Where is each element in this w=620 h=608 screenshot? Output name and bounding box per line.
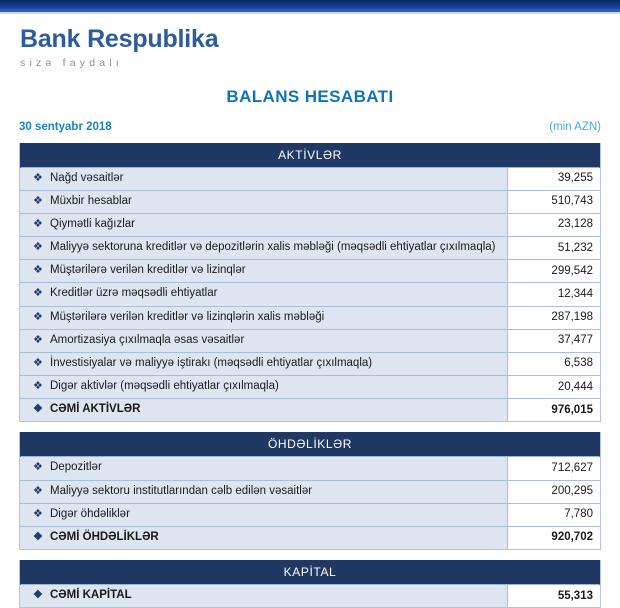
row-label-text: Müxbir hesablar <box>50 195 132 207</box>
row-label-text: Maliyyə sektoru institutlarından cəlb ed… <box>50 485 312 497</box>
row-label: ❖Maliyyə sektoru institutlarından cəlb e… <box>20 480 507 503</box>
row-label: ❖CƏMİ KAPİTAL <box>20 585 507 607</box>
brand-tagline: sizə faydalı <box>20 57 620 69</box>
balance-sheet-tables: AKTİVLƏR❖Nağd vəsaitlər39,255❖Müxbir hes… <box>0 143 620 608</box>
row-label: ❖Digər öhdəliklər <box>20 503 507 526</box>
row-label: ❖CƏMİ AKTİVLƏR <box>20 399 507 422</box>
table-row: ❖Digər öhdəliklər7,780 <box>20 503 600 526</box>
row-label-text: Müştərilərə verilən kreditlər və lizinql… <box>50 311 324 323</box>
table-row: ❖Kreditlər üzrə məqsədli ehtiyatlar12,34… <box>20 283 600 306</box>
row-label-text: Depozitlər <box>50 461 102 473</box>
row-label: ❖Nağd vəsaitlər <box>20 168 507 191</box>
table-row: ❖Qiymətli kağızlar23,128 <box>20 213 600 236</box>
diamond-bullet-icon: ❖ <box>33 530 43 545</box>
section-assets: AKTİVLƏR❖Nağd vəsaitlər39,255❖Müxbir hes… <box>19 143 601 423</box>
row-value: 51,232 <box>507 237 600 260</box>
table-row: ❖Nağd vəsaitlər39,255 <box>20 168 600 191</box>
table-row: ❖Müxbir hesablar510,743 <box>20 190 600 213</box>
row-value: 200,295 <box>507 480 600 503</box>
table-row: ❖CƏMİ KAPİTAL55,313 <box>20 585 600 607</box>
row-label-text: İnvestisiyalar və maliyyə iştirakı (məqs… <box>50 357 372 369</box>
table-liabilities: ❖Depozitlər712,627❖Maliyyə sektoru insti… <box>20 457 600 549</box>
row-label: ❖CƏMİ ÖHDƏLİKLƏR <box>20 526 507 549</box>
diamond-bullet-icon: ❖ <box>33 333 43 348</box>
table-row: ❖Müştərilərə verilən kreditlər və lizinq… <box>20 306 600 329</box>
diamond-bullet-icon: ❖ <box>33 484 43 499</box>
table-row: ❖Maliyyə sektoru institutlarından cəlb e… <box>20 480 600 503</box>
section-heading-liabilities: ÖHDƏLİKLƏR <box>20 432 600 457</box>
row-value: 712,627 <box>507 457 600 480</box>
diamond-bullet-icon: ❖ <box>33 356 43 371</box>
row-value: 6,538 <box>507 352 600 375</box>
row-label-text: Kreditlər üzrə məqsədli ehtiyatlar <box>50 287 217 299</box>
row-label: ❖Müxbir hesablar <box>20 190 507 213</box>
table-assets: ❖Nağd vəsaitlər39,255❖Müxbir hesablar510… <box>20 168 600 422</box>
section-liabilities: ÖHDƏLİKLƏR❖Depozitlər712,627❖Maliyyə sek… <box>19 432 601 550</box>
row-label-text: Amortizasiya çıxılmaqla əsas vəsaitlər <box>50 334 244 346</box>
row-label: ❖Digər aktivlər (məqsədli ehtiyatlar çıx… <box>20 376 507 399</box>
table-row: ❖Maliyyə sektoruna kreditlər və depozitl… <box>20 237 600 260</box>
row-value: 7,780 <box>507 503 600 526</box>
row-label-text: CƏMİ KAPİTAL <box>50 589 132 601</box>
currency-unit-label: (min AZN) <box>549 121 601 133</box>
row-label-text: Digər aktivlər (məqsədli ehtiyatlar çıxı… <box>50 380 279 392</box>
diamond-bullet-icon: ❖ <box>33 460 43 475</box>
section-heading-capital: KAPİTAL <box>20 560 600 585</box>
section-capital: KAPİTAL❖CƏMİ KAPİTAL55,313 <box>19 560 601 608</box>
row-value: 39,255 <box>507 168 600 191</box>
row-label: ❖Müştərilərə verilən kreditlər və lizinq… <box>20 260 507 283</box>
row-value: 510,743 <box>507 190 600 213</box>
table-row: ❖İnvestisiyalar və maliyyə iştirakı (məq… <box>20 352 600 375</box>
row-value: 920,702 <box>507 526 600 549</box>
diamond-bullet-icon: ❖ <box>33 507 43 522</box>
row-label: ❖Amortizasiya çıxılmaqla əsas vəsaitlər <box>20 329 507 352</box>
diamond-bullet-icon: ❖ <box>33 286 43 301</box>
row-label: ❖Maliyyə sektoruna kreditlər və depozitl… <box>20 237 507 260</box>
row-value: 12,344 <box>507 283 600 306</box>
row-label: ❖Kreditlər üzrə məqsədli ehtiyatlar <box>20 283 507 306</box>
row-value: 20,444 <box>507 376 600 399</box>
table-row: ❖Müştərilərə verilən kreditlər və lizinq… <box>20 260 600 283</box>
table-row: ❖CƏMİ AKTİVLƏR976,015 <box>20 399 600 422</box>
diamond-bullet-icon: ❖ <box>33 402 43 417</box>
page-title: BALANS HESABATI <box>0 87 620 107</box>
row-label-text: CƏMİ ÖHDƏLİKLƏR <box>50 531 159 543</box>
report-date: 30 sentyabr 2018 <box>19 121 112 133</box>
table-capital: ❖CƏMİ KAPİTAL55,313 <box>20 585 600 607</box>
table-row: ❖Digər aktivlər (məqsədli ehtiyatlar çıx… <box>20 376 600 399</box>
row-label-text: Maliyyə sektoruna kreditlər və depozitlə… <box>50 241 496 253</box>
diamond-bullet-icon: ❖ <box>33 588 43 603</box>
row-label-text: Digər öhdəliklər <box>50 508 130 520</box>
table-row: ❖CƏMİ ÖHDƏLİKLƏR920,702 <box>20 526 600 549</box>
brand-logo: Bank Respublika sizə faydalı <box>0 14 620 69</box>
diamond-bullet-icon: ❖ <box>33 194 43 209</box>
row-label: ❖İnvestisiyalar və maliyyə iştirakı (məq… <box>20 352 507 375</box>
diamond-bullet-icon: ❖ <box>33 379 43 394</box>
diamond-bullet-icon: ❖ <box>33 217 43 232</box>
row-value: 37,477 <box>507 329 600 352</box>
section-heading-assets: AKTİVLƏR <box>20 143 600 168</box>
row-value: 976,015 <box>507 399 600 422</box>
row-value: 23,128 <box>507 213 600 236</box>
brand-name: Bank Respublika <box>20 26 620 54</box>
row-value: 299,542 <box>507 260 600 283</box>
row-value: 287,198 <box>507 306 600 329</box>
row-label: ❖Müştərilərə verilən kreditlər və lizinq… <box>20 306 507 329</box>
row-label-text: Qiymətli kağızlar <box>50 218 135 230</box>
diamond-bullet-icon: ❖ <box>33 171 43 186</box>
diamond-bullet-icon: ❖ <box>33 310 43 325</box>
table-row: ❖Amortizasiya çıxılmaqla əsas vəsaitlər3… <box>20 329 600 352</box>
row-label-text: CƏMİ AKTİVLƏR <box>50 403 140 415</box>
row-label-text: Nağd vəsaitlər <box>50 172 124 184</box>
row-label: ❖Depozitlər <box>20 457 507 480</box>
diamond-bullet-icon: ❖ <box>33 240 43 255</box>
report-meta: 30 sentyabr 2018 (min AZN) <box>0 121 620 133</box>
row-value: 55,313 <box>507 585 600 607</box>
diamond-bullet-icon: ❖ <box>33 263 43 278</box>
table-row: ❖Depozitlər712,627 <box>20 457 600 480</box>
row-label-text: Müştərilərə verilən kreditlər və lizinql… <box>50 264 246 276</box>
top-accent-bar-dark <box>0 0 620 9</box>
row-label: ❖Qiymətli kağızlar <box>20 213 507 236</box>
